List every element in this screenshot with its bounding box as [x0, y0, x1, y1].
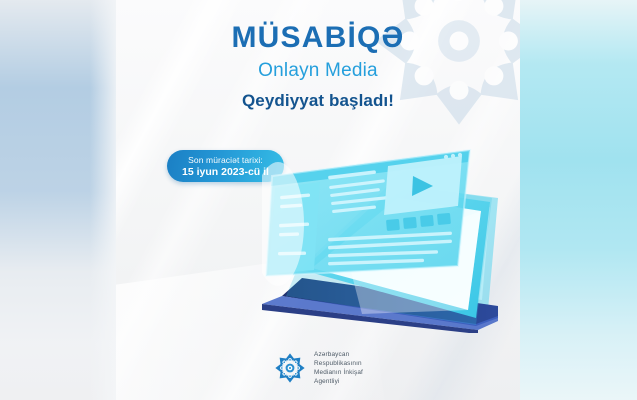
deadline-label: Son müraciət tarixi: — [188, 155, 263, 165]
right-gradient-band — [520, 0, 637, 400]
headline-block: MÜSABİQƏ Onlayn Media Qeydiyyat başladı! — [116, 22, 520, 111]
agency-name-line-3: Medianın İnkişaf — [314, 368, 363, 377]
headline-call-to-action: Qeydiyyat başladı! — [116, 91, 520, 111]
left-gradient-band — [0, 0, 116, 400]
agency-name-line-4: Agentliyi — [314, 377, 363, 386]
deadline-date: 15 iyun 2023-cü il — [182, 166, 269, 178]
main-panel: MÜSABİQƏ Onlayn Media Qeydiyyat başladı!… — [116, 0, 520, 400]
footer-logo: Azərbaycan Respublikasının Medianın İnki… — [116, 350, 520, 386]
headline-main: MÜSABİQƏ — [116, 22, 520, 54]
laptop-illustration — [262, 128, 514, 333]
agency-name-block: Azərbaycan Respublikasının Medianın İnki… — [314, 350, 363, 386]
agency-name-line-1: Azərbaycan — [314, 350, 363, 359]
agency-rosette-logo-icon — [273, 351, 307, 385]
headline-subtitle: Onlayn Media — [116, 60, 520, 82]
promo-poster: MÜSABİQƏ Onlayn Media Qeydiyyat başladı!… — [0, 0, 637, 400]
agency-name-line-2: Respublikasının — [314, 359, 363, 368]
